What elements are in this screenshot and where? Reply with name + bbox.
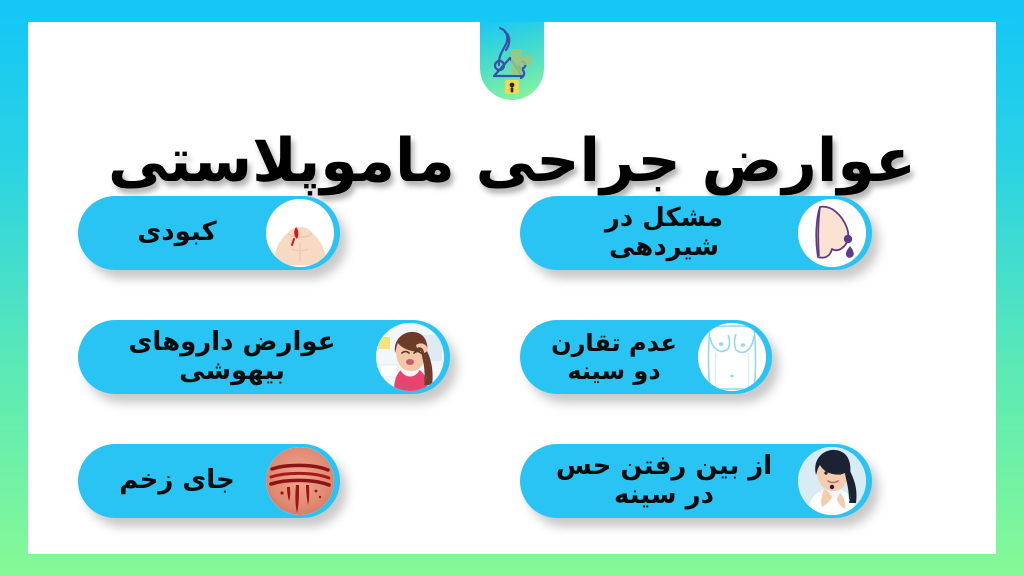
- left-column: مشکل در شیردهی: [512, 182, 968, 536]
- pill-anesthesia-side-effects[interactable]: عوارض داروهای بیهوشی: [78, 320, 450, 394]
- medical-clinic-logo: [480, 22, 544, 100]
- pill-label: جای زخم: [104, 466, 256, 495]
- pill-bruising[interactable]: کبودی: [78, 196, 340, 270]
- poster-canvas: عوارض جراحی ماموپلاستی: [28, 22, 996, 554]
- infographic-poster: عوارض جراحی ماموپلاستی: [0, 0, 1024, 576]
- pill-label: از بین رفتن حس در سینه: [546, 452, 788, 510]
- pill-breastfeeding-difficulty[interactable]: مشکل در شیردهی: [520, 196, 872, 270]
- wound-scar-icon: [266, 447, 334, 515]
- pill-label: کبودی: [104, 218, 256, 247]
- pill-label: عوارض داروهای بیهوشی: [104, 328, 366, 386]
- pill-scarring[interactable]: جای زخم: [78, 444, 340, 518]
- pill-label: مشکل در شیردهی: [546, 204, 788, 262]
- breast-asymmetry-icon: [698, 323, 766, 391]
- right-column: کبودی: [56, 182, 512, 536]
- dizzy-woman-icon: [376, 323, 444, 391]
- breast-milk-drop-icon: [798, 199, 866, 267]
- bruised-chest-icon: [266, 199, 334, 267]
- content-columns: کبودی: [28, 182, 996, 536]
- woman-touching-chest-icon: [798, 447, 866, 515]
- pill-label: عدم تقارن دو سینه: [546, 329, 688, 386]
- pill-breast-asymmetry[interactable]: عدم تقارن دو سینه: [520, 320, 772, 394]
- pill-loss-of-sensation[interactable]: از بین رفتن حس در سینه: [520, 444, 872, 518]
